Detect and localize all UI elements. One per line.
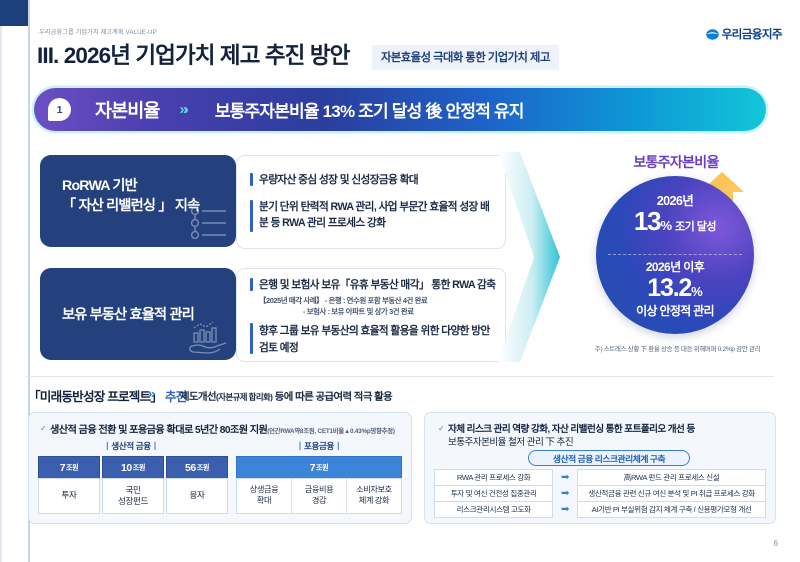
project-description: 제도개선(자본규제 합리화) 등에 따른 공급여력 적극 활용: [180, 388, 392, 403]
page-number: 6: [774, 539, 778, 548]
group-label-productive: 丨생산적 금융丨: [36, 440, 226, 452]
donut-footnote: 주) 스트레스 상황 下 환율 상승 등 대응 위해버퍼 0.2%p 감안 관리: [560, 344, 795, 353]
block-1-bullet-2-text: 분기 단위 탄력적 RWA 관리, 사업 부문간 효율적 성장 배분 등 RWA…: [259, 200, 498, 232]
section-divider: [26, 376, 774, 377]
productive-finance-heading-note: (연간RWA약8조원, CET1비율▲0.43%p영향추정): [267, 428, 395, 435]
risk-heading-line2: 보통주자본비율 철저 관리 下 추진: [448, 434, 573, 448]
bullet-tick-icon: [250, 323, 253, 354]
bullet-tick-icon: [250, 278, 253, 291]
brand-name: 우리금융지주: [722, 26, 782, 42]
project-title: 「미래동반성장 프로젝트」 추진: [28, 386, 186, 405]
risk-matrix-right-2: AI기반 PI 부실위험 감지 체계 구축 / 신용평가모형 개선: [577, 501, 766, 518]
donut-lower-value: 13.2: [647, 274, 691, 302]
block-2-title-box: 보유 부동산 효율적 관리: [40, 268, 236, 360]
block-2-bullet-2: 향후 그룹 보유 부동산의 효율적 활용을 위한 다양한 방안 검토 예정: [250, 323, 500, 357]
section-headline: 보통주자본비율 13% 조기 달성 後 안정적 유지: [215, 97, 524, 122]
risk-pill-label: 생산적 금융 리스크관리체계 구축: [528, 450, 690, 466]
inclusive-item-2: 소비자보호 체계 강화: [346, 479, 401, 513]
rebalancing-icon: [188, 205, 228, 246]
spine-divider-left: [0, 26, 2, 562]
arrow-right-icon: ➡: [553, 504, 577, 515]
block-2-bullet-2-text: 향후 그룹 보유 부동산의 효율적 활용을 위한 다양한 방안 검토 예정: [259, 323, 500, 357]
risk-matrix-right-0: 高RWA 펀드 관리 프로세스 신설: [577, 469, 766, 486]
woori-logo-icon: [706, 28, 719, 41]
block-1-title-line2: 「 자산 리밸런싱 」 지속: [62, 197, 199, 217]
donut-upper-tail: 조기 달성: [675, 221, 716, 233]
productive-name-2: 융자: [166, 478, 228, 514]
block-2-bullet-1-main: 은행 및 보험사 보유「유휴 부동산 매각」 통한 RWA 감축: [259, 279, 495, 291]
risk-matrix-left-0: RWA 관리 프로세스 강화: [434, 469, 553, 486]
risk-matrix-left-1: 투자 및 여신 건전성 집중관리: [434, 485, 553, 502]
subtitle-chip: 자본효율성 극대화 통한 기업가치 제고: [372, 45, 559, 70]
donut-lower-label: 2026년 이후: [596, 258, 754, 275]
inclusive-item-1: 금융비용 경감: [291, 479, 346, 513]
risk-heading-line1: 자체 리스크 관리 역량 강화, 자산 리밸런싱 통한 포트폴리오 개선 등: [448, 421, 695, 435]
block-1-title-line1: RoRWA 기반: [62, 177, 137, 197]
inclusive-amount: 7조원: [236, 456, 402, 480]
eyebrow-text: 우리금융그룹 기업가치 제고계획 VALUE-UP: [39, 27, 157, 36]
productive-amount-2: 56조원: [166, 456, 228, 480]
donut-upper-pct: %: [660, 218, 672, 233]
group-label-inclusive: 丨포용금융丨: [236, 440, 402, 452]
productive-finance-heading-main: 생산적 금융 전환 및 포용금융 확대로 5년간 80조원 지원: [50, 425, 267, 436]
page-title: III. 2026년 기업가치 제고 추진 방안: [37, 38, 349, 70]
donut-upper-value-row: 13%조기 달성: [596, 206, 754, 237]
donut-lower-pct: %: [691, 284, 703, 299]
arrow-right-icon: ➡: [553, 472, 577, 483]
real-estate-hand-icon: [186, 320, 230, 361]
block-2-bullet-1-sub: 【2025년 매각 사례】 - 은행 : 연수원 포함 부동산 4건 완료: [259, 296, 495, 307]
block-1-title-box: RoRWA 기반 「 자산 리밸런싱 」 지속: [40, 155, 236, 247]
block-1-bullet-1: 우량자산 중심 성장 및 신성장금융 확대: [250, 173, 498, 189]
bullet-tick-icon: [250, 200, 253, 232]
section-banner: 1 자본비율 »› 보통주자본비율 13% 조기 달성 後 안정적 유지: [34, 88, 766, 131]
productive-amount-1: 10조원: [102, 456, 164, 480]
inclusive-items: 상생금융 확대 금융비용 경감 소비자보호 체계 강화: [236, 478, 402, 514]
project-desc-bold: 제도개선: [180, 392, 216, 403]
ratio-title: 보통주자본비율: [598, 152, 754, 172]
block-1-bullet-2: 분기 단위 탄력적 RWA 관리, 사업 부문간 효율적 성장 배분 등 RWA…: [250, 200, 498, 232]
block-2-bullet-1-text: 은행 및 보험사 보유「유휴 부동산 매각」 통한 RWA 감축 【2025년 …: [259, 278, 495, 317]
donut-lower-tail: 이상 안정적 관리: [596, 302, 754, 319]
slide-canvas: 우리금융그룹 기업가치 제고계획 VALUE-UP III. 2026년 기업가…: [0, 0, 800, 562]
donut-upper-value: 13: [634, 206, 661, 236]
check-icon: ✓: [438, 424, 445, 433]
block-2-bullet-1-sub2: - 보험사 : 보유 아파트 및 상가 3건 완료: [303, 307, 495, 318]
section-number: 1: [48, 98, 71, 121]
block-2-title-line1: 보유 부동산 효율적 관리: [62, 306, 194, 326]
productive-amount-0: 7조원: [38, 456, 100, 480]
check-icon: ✓: [40, 424, 47, 433]
risk-matrix-row-0: RWA 관리 프로세스 강화 ➡ 高RWA 펀드 관리 프로세스 신설: [434, 470, 766, 485]
risk-matrix-left-2: 리스크관리시스템 고도화: [434, 501, 553, 518]
project-desc-paren: (자본규제 합리화): [216, 392, 272, 402]
donut-lower-value-row: 13.2%: [596, 274, 754, 303]
block-2-bullet-1: 은행 및 보험사 보유「유휴 부동산 매각」 통한 RWA 감축 【2025년 …: [250, 278, 500, 317]
block-1-bullet-1-text: 우량자산 중심 성장 및 신성장금융 확대: [259, 173, 418, 189]
chevrons-icon: »›: [179, 101, 184, 118]
productive-name-0: 투자: [38, 478, 100, 514]
risk-matrix-row-2: 리스크관리시스템 고도화 ➡ AI기반 PI 부실위험 감지 체계 구축 / 신…: [434, 502, 766, 517]
section-label: 자본비율: [95, 97, 159, 123]
section-number-badge: 1: [48, 98, 71, 121]
chevron-arrow-icon: [498, 152, 564, 362]
risk-matrix-row-1: 투자 및 여신 건전성 집중관리 ➡ 생산적금융 관련 신규 여신 분석 및 P…: [434, 486, 766, 501]
donut-divider: [608, 254, 742, 255]
capital-ratio-donut: 2026년 13%조기 달성 2026년 이후 13.2% 이상 안정적 관리: [596, 176, 754, 334]
productive-name-1: 국민 성장펀드: [102, 478, 164, 514]
spine-top-block: [0, 0, 29, 26]
project-title-quoted: 「미래동반성장 프로젝트」: [28, 390, 162, 404]
risk-matrix-right-1: 생산적금융 관련 신규 여신 분석 및 PI 취급 프로세스 강화: [577, 485, 766, 502]
brand-logo: 우리금융지주: [706, 26, 782, 42]
arrow-right-icon: ➡: [553, 488, 577, 499]
productive-finance-heading: 생산적 금융 전환 및 포용금융 확대로 5년간 80조원 지원(연간RWA약8…: [50, 421, 395, 436]
bullet-tick-icon: [250, 173, 253, 186]
project-arrow-icon: »: [148, 386, 152, 401]
inclusive-item-0: 상생금융 확대: [237, 479, 291, 513]
project-desc-rest: 등에 따른 공급여력 적극 활용: [272, 392, 392, 403]
